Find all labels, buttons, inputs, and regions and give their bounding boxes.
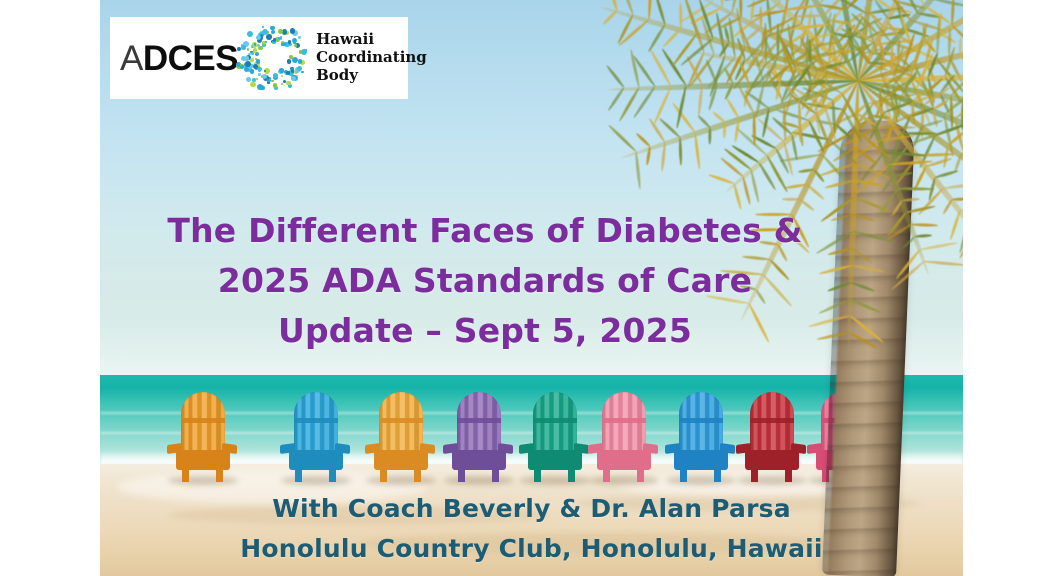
adces-letter-a: A — [120, 39, 143, 78]
presentation-slide: ADCES Hawaii Coordinating Body The Diffe… — [0, 0, 1038, 576]
chair-leg-left — [182, 466, 189, 482]
chair-back — [533, 392, 577, 454]
chair-shadow — [366, 476, 436, 485]
chair-leg-left — [380, 466, 387, 482]
venue-location: Honolulu Country Club, Honolulu, Hawaii — [100, 529, 963, 569]
chair-back — [457, 392, 501, 454]
chair-shadow — [281, 476, 351, 485]
chair-leg-right — [785, 466, 792, 482]
slide-title-line-1: The Different Faces of Diabetes & — [100, 206, 870, 256]
chair-leg-right — [714, 466, 721, 482]
chair-shadow — [444, 476, 514, 485]
chair-purple — [448, 392, 510, 480]
chair-crossbar — [679, 418, 723, 423]
chair-leg-right — [414, 466, 421, 482]
chair-orange-1 — [172, 392, 234, 480]
chair-leg-right — [637, 466, 644, 482]
chair-crossbar — [294, 418, 338, 423]
chair-shadow — [666, 476, 736, 485]
chair-leg-left — [295, 466, 302, 482]
chair-leg-left — [680, 466, 687, 482]
chair-back — [679, 392, 723, 454]
chair-shadow — [737, 476, 807, 485]
chair-shadow — [589, 476, 659, 485]
chair-back — [750, 392, 794, 454]
adces-wordmark: ADCES — [120, 41, 238, 76]
chair-orange-2 — [370, 392, 432, 480]
chair-crossbar — [602, 418, 646, 423]
chair-shadow — [520, 476, 590, 485]
chair-leg-right — [568, 466, 575, 482]
adces-dot-swirl-icon — [236, 21, 310, 95]
chair-crossbar — [181, 418, 225, 423]
chair-crossbar — [379, 418, 423, 423]
chair-leg-right — [329, 466, 336, 482]
slide-title-line-3: Update – Sept 5, 2025 — [100, 306, 870, 356]
chair-crossbar — [457, 418, 501, 423]
chair-back — [294, 392, 338, 454]
chair-leg-left — [603, 466, 610, 482]
slide-subtitle: With Coach Beverly & Dr. Alan Parsa Hono… — [100, 489, 963, 569]
chair-back — [379, 392, 423, 454]
chair-blue-1 — [285, 392, 347, 480]
chair-shadow — [168, 476, 238, 485]
chair-leg-right — [492, 466, 499, 482]
chair-blue-2 — [670, 392, 732, 480]
chair-leg-left — [534, 466, 541, 482]
affiliate-name: Hawaii Coordinating Body — [316, 31, 427, 84]
slide-title: The Different Faces of Diabetes & 2025 A… — [100, 206, 870, 356]
chair-back — [602, 392, 646, 454]
chair-crossbar — [750, 418, 794, 423]
chair-red — [741, 392, 803, 480]
chair-crossbar — [533, 418, 577, 423]
chair-leg-left — [751, 466, 758, 482]
chair-back — [181, 392, 225, 454]
chair-teal — [524, 392, 586, 480]
adces-logo-card: ADCES Hawaii Coordinating Body — [110, 17, 408, 99]
slide-title-line-2: 2025 ADA Standards of Care — [100, 256, 870, 306]
chair-leg-left — [458, 466, 465, 482]
chair-leg-right — [216, 466, 223, 482]
presenter-names: With Coach Beverly & Dr. Alan Parsa — [100, 489, 963, 529]
adces-letters-dces: DCES — [143, 39, 238, 78]
chair-pink-1 — [593, 392, 655, 480]
